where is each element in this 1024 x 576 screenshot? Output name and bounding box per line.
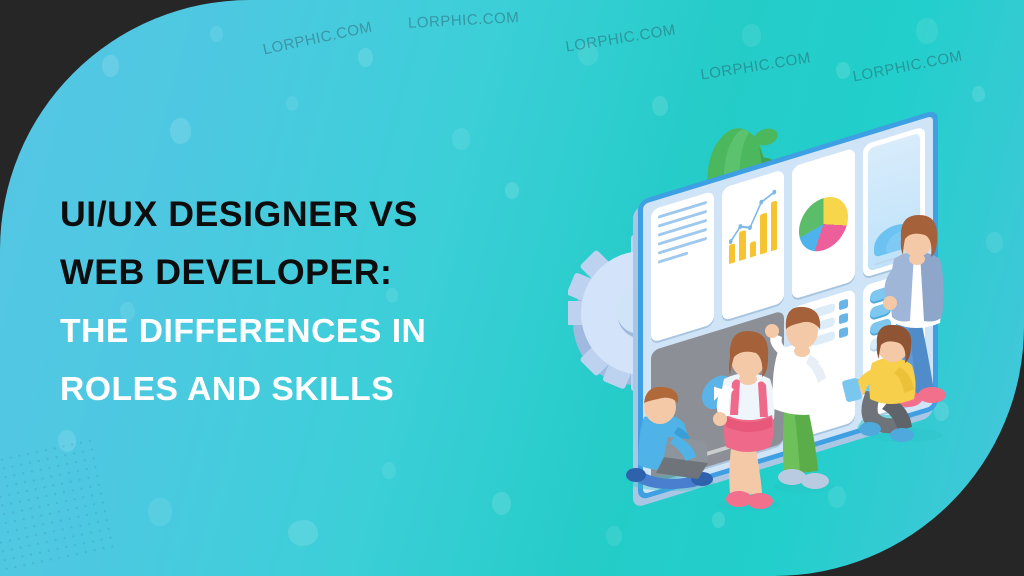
- slide-canvas: LORPHIC.COM LORPHIC.COM LORPHIC.COM LORP…: [0, 0, 1024, 576]
- bubble-decoration: [836, 62, 850, 79]
- headline-line-1: UI/UX DESIGNER VS: [60, 186, 550, 244]
- bubble-decoration: [148, 498, 172, 526]
- headline-line-2: WEB DEVELOPER:: [60, 244, 550, 302]
- bubble-decoration: [742, 24, 761, 47]
- bubble-decoration: [210, 26, 223, 42]
- person-crouching-yellow-shirt: [848, 323, 958, 443]
- bubble-decoration: [916, 18, 938, 44]
- bar: [750, 241, 757, 258]
- pie-wrap: [799, 158, 848, 290]
- watermark: LORPHIC.COM: [261, 19, 373, 59]
- bubble-decoration: [452, 128, 470, 150]
- text-line: [658, 252, 688, 264]
- teal-panel: LORPHIC.COM LORPHIC.COM LORPHIC.COM LORP…: [0, 0, 1024, 576]
- watermark: LORPHIC.COM: [851, 48, 964, 86]
- headline-line-4: ROLES AND SKILLS: [60, 360, 550, 418]
- bar-chart-card[interactable]: [722, 169, 785, 321]
- dot-texture: [0, 435, 121, 576]
- headline-line-3: THE DIFFERENCES IN: [60, 302, 550, 360]
- pie-chart: [799, 190, 848, 257]
- bubble-decoration: [382, 462, 396, 479]
- watermark: LORPHIC.COM: [699, 49, 812, 83]
- headline-block: UI/UX DESIGNER VS WEB DEVELOPER: THE DIF…: [60, 186, 540, 418]
- watermark: LORPHIC.COM: [564, 21, 677, 55]
- text-card[interactable]: [651, 191, 714, 343]
- bubble-decoration: [492, 492, 511, 515]
- bubble-decoration: [358, 48, 373, 67]
- hero-illustration: [560, 95, 1024, 535]
- watermark: LORPHIC.COM: [408, 9, 520, 32]
- person-man-green-pants: [758, 305, 850, 495]
- bubble-decoration: [286, 96, 298, 111]
- bubble-decoration: [288, 520, 318, 546]
- bubble-decoration: [170, 118, 191, 144]
- pie-chart-card[interactable]: [792, 148, 855, 300]
- bubble-decoration: [102, 55, 119, 77]
